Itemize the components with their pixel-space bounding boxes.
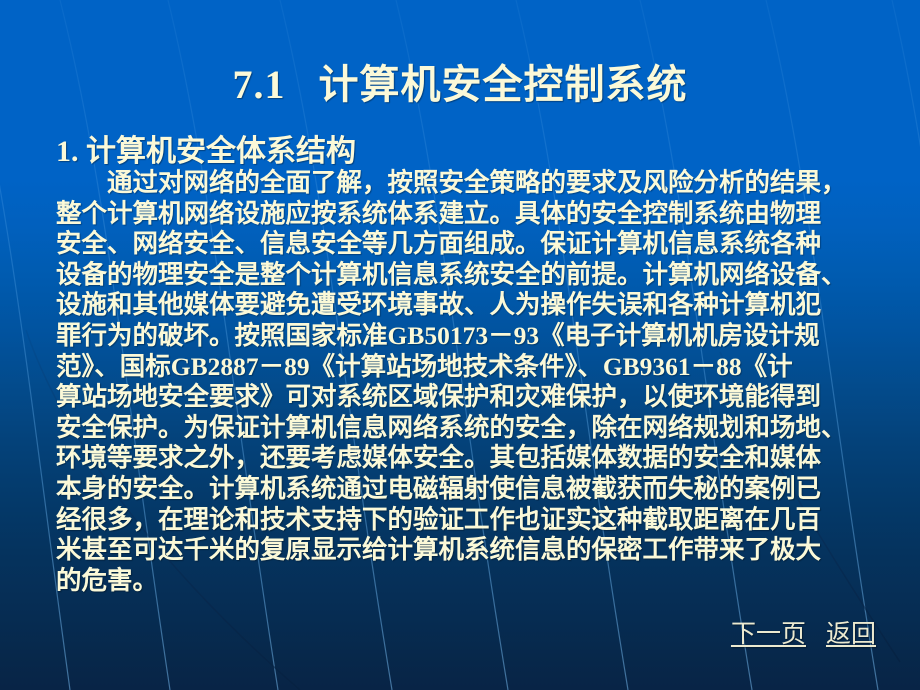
body-paragraph: 通过对网络的全面了解，按照安全策略的要求及风险分析的结果， 整个计算机网络设施应… bbox=[56, 168, 920, 596]
body-line: 本身的安全。计算机系统通过电磁辐射使信息被截获而失秘的案例已 bbox=[56, 474, 920, 505]
body-line: 罪行为的破坏。按照国家标准GB50173－93《电子计算机机房设计规 bbox=[56, 321, 920, 352]
body-line: 设备的物理安全是整个计算机信息系统安全的前提。计算机网络设备、 bbox=[56, 260, 920, 291]
body-line: 设施和其他媒体要避免遭受环境事故、人为操作失误和各种计算机犯 bbox=[56, 290, 920, 321]
body-line: 环境等要求之外，还要考虑媒体安全。其包括媒体数据的安全和媒体 bbox=[56, 443, 920, 474]
next-page-link[interactable]: 下一页 bbox=[731, 614, 806, 650]
body-line: 经很多，在理论和技术支持下的验证工作也证实这种截取距离在几百 bbox=[56, 505, 920, 536]
body-line: 的危害。 bbox=[56, 566, 920, 597]
body-line: 米甚至可达千米的复原显示给计算机系统信息的保密工作带来了极大 bbox=[56, 535, 920, 566]
section-heading: 1. 计算机安全体系结构 bbox=[56, 126, 356, 170]
back-link[interactable]: 返回 bbox=[826, 614, 876, 650]
body-line: 整个计算机网络设施应按系统体系建立。具体的安全控制系统由物理 bbox=[56, 199, 920, 230]
body-line: 通过对网络的全面了解，按照安全策略的要求及风险分析的结果， bbox=[56, 168, 920, 199]
body-line: 算站场地安全要求》可对系统区域保护和灾难保护，以使环境能得到 bbox=[56, 382, 920, 413]
body-line: 安全、网络安全、信息安全等几方面组成。保证计算机信息系统各种 bbox=[56, 229, 920, 260]
body-line: 安全保护。为保证计算机信息网络系统的安全，除在网络规划和场地、 bbox=[56, 413, 920, 444]
footer-navigation: 下一页 返回 bbox=[731, 614, 876, 650]
slide-title: 7.1 计算机安全控制系统 bbox=[0, 52, 920, 110]
presentation-slide: 7.1 计算机安全控制系统 1. 计算机安全体系结构 通过对网络的全面了解，按照… bbox=[0, 0, 920, 690]
body-line: 范》、国标GB2887－89《计算站场地技术条件》、GB9361－88《计 bbox=[56, 352, 920, 383]
